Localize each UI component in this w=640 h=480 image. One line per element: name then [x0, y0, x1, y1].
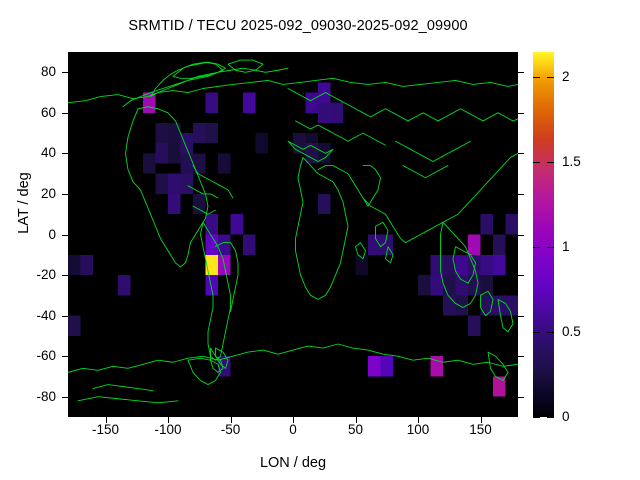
y-tick-label: 80: [10, 64, 56, 80]
heatmap-cell: [168, 123, 181, 143]
heatmap-cell: [243, 235, 256, 255]
heatmap-cell: [68, 316, 81, 336]
heatmap-cell: [318, 82, 331, 102]
colorbar-gradient: [533, 52, 554, 417]
x-tick-mark: [356, 52, 357, 58]
coastline-layer: [68, 60, 518, 403]
y-tick-mark: [62, 113, 68, 114]
heatmap-cell: [468, 275, 481, 295]
x-tick-label: 50: [326, 422, 386, 437]
colorbar-tick-mark: [547, 162, 554, 163]
heatmap-cell: [168, 143, 181, 163]
heatmap-cell: [81, 255, 94, 275]
map-plot-area: [68, 52, 518, 417]
heatmap-cell: [468, 235, 481, 255]
colorbar-tick-mark: [547, 77, 554, 78]
y-tick-label: -60: [10, 348, 56, 364]
y-tick-mark: [62, 194, 68, 195]
heatmap-cell: [431, 275, 444, 295]
y-tick-mark: [518, 194, 524, 195]
y-tick-mark: [518, 275, 524, 276]
y-tick-label: -40: [10, 308, 56, 324]
x-tick-label: -150: [76, 422, 136, 437]
y-tick-mark: [62, 316, 68, 317]
heatmap-cell: [418, 275, 431, 295]
heatmap-cell: [193, 153, 206, 173]
colorbar-tick-label: 1.5: [562, 154, 581, 170]
heatmap-cell: [456, 275, 469, 295]
heatmap-cell: [143, 93, 156, 113]
y-tick-mark: [518, 356, 524, 357]
x-tick-label: 100: [388, 422, 448, 437]
x-tick-label: 150: [451, 422, 511, 437]
y-tick-label: -20: [10, 267, 56, 283]
heatmap-cell: [193, 194, 206, 214]
y-tick-mark: [518, 72, 524, 73]
heatmap-cell: [218, 153, 231, 173]
colorbar-tick-label: 2: [562, 69, 570, 85]
x-axis-label: LON / deg: [68, 455, 518, 471]
heatmap-cell: [368, 356, 381, 376]
heatmap-cell: [181, 174, 194, 194]
page-title: SRMTID / TECU 2025-092_09030-2025-092_09…: [0, 18, 596, 34]
heatmap-cell: [456, 255, 469, 275]
heatmap-cell: [481, 295, 494, 315]
colorbar-tick-mark: [533, 247, 540, 248]
y-tick-mark: [518, 397, 524, 398]
y-tick-label: -80: [10, 389, 56, 405]
heatmap-cell: [481, 255, 494, 275]
y-tick-mark: [518, 153, 524, 154]
heatmap-cell: [443, 295, 456, 315]
y-tick-mark: [62, 153, 68, 154]
y-tick-mark: [518, 235, 524, 236]
x-tick-mark: [418, 52, 419, 58]
y-tick-mark: [62, 356, 68, 357]
heatmap-cell: [506, 214, 519, 234]
heatmap-cell: [481, 214, 494, 234]
colorbar-tick-mark: [533, 162, 540, 163]
heatmap-cell: [206, 255, 219, 275]
colorbar-tick-mark: [533, 77, 540, 78]
y-tick-mark: [518, 113, 524, 114]
heatmap-cell: [156, 143, 169, 163]
x-tick-mark: [231, 52, 232, 58]
heatmap-cells: [68, 82, 518, 396]
y-tick-mark: [62, 275, 68, 276]
heatmap-cell: [381, 356, 394, 376]
heatmap-cell: [206, 123, 219, 143]
y-tick-mark: [62, 397, 68, 398]
y-tick-label: 60: [10, 105, 56, 121]
heatmap-cell: [331, 103, 344, 123]
heatmap-cell: [181, 153, 194, 173]
heatmap-cell: [493, 235, 506, 255]
y-tick-label: 20: [10, 186, 56, 202]
y-tick-mark: [62, 235, 68, 236]
x-tick-mark: [293, 52, 294, 58]
heatmap-cell: [206, 93, 219, 113]
heatmap-cell: [168, 194, 181, 214]
heatmap-cell: [293, 133, 306, 153]
map-svg: [68, 52, 518, 417]
heatmap-cell: [193, 123, 206, 143]
colorbar: [533, 52, 554, 417]
x-tick-label: -50: [201, 422, 261, 437]
y-tick-label: 40: [10, 145, 56, 161]
y-tick-mark: [518, 316, 524, 317]
x-tick-mark: [106, 52, 107, 58]
heatmap-cell: [493, 255, 506, 275]
y-tick-mark: [62, 72, 68, 73]
heatmap-cell: [168, 174, 181, 194]
heatmap-cell: [206, 235, 219, 255]
heatmap-cell: [118, 275, 131, 295]
colorbar-tick-mark: [533, 417, 540, 418]
colorbar-tick-label: 1: [562, 239, 570, 255]
x-tick-label: -100: [138, 422, 198, 437]
heatmap-cell: [318, 194, 331, 214]
heatmap-cell: [206, 214, 219, 234]
heatmap-cell: [143, 153, 156, 173]
colorbar-tick-mark: [547, 417, 554, 418]
y-tick-label: 0: [10, 227, 56, 243]
heatmap-cell: [256, 133, 269, 153]
x-tick-label: 0: [263, 422, 323, 437]
heatmap-cell: [506, 295, 519, 315]
colorbar-tick-mark: [547, 332, 554, 333]
colorbar-tick-mark: [533, 332, 540, 333]
colorbar-tick-mark: [547, 247, 554, 248]
heatmap-cell: [468, 316, 481, 336]
heatmap-cell: [318, 103, 331, 123]
heatmap-cell: [206, 275, 219, 295]
heatmap-cell: [306, 93, 319, 113]
x-tick-mark: [168, 52, 169, 58]
x-tick-mark: [481, 52, 482, 58]
heatmap-cell: [443, 275, 456, 295]
heatmap-cell: [156, 123, 169, 143]
heatmap-cell: [231, 214, 244, 234]
colorbar-tick-label: 0: [562, 409, 570, 425]
heatmap-cell: [181, 133, 194, 153]
colorbar-tick-label: 0.5: [562, 324, 581, 340]
heatmap-cell: [368, 235, 381, 255]
heatmap-cell: [68, 255, 81, 275]
heatmap-cell: [243, 93, 256, 113]
heatmap-cell: [156, 174, 169, 194]
